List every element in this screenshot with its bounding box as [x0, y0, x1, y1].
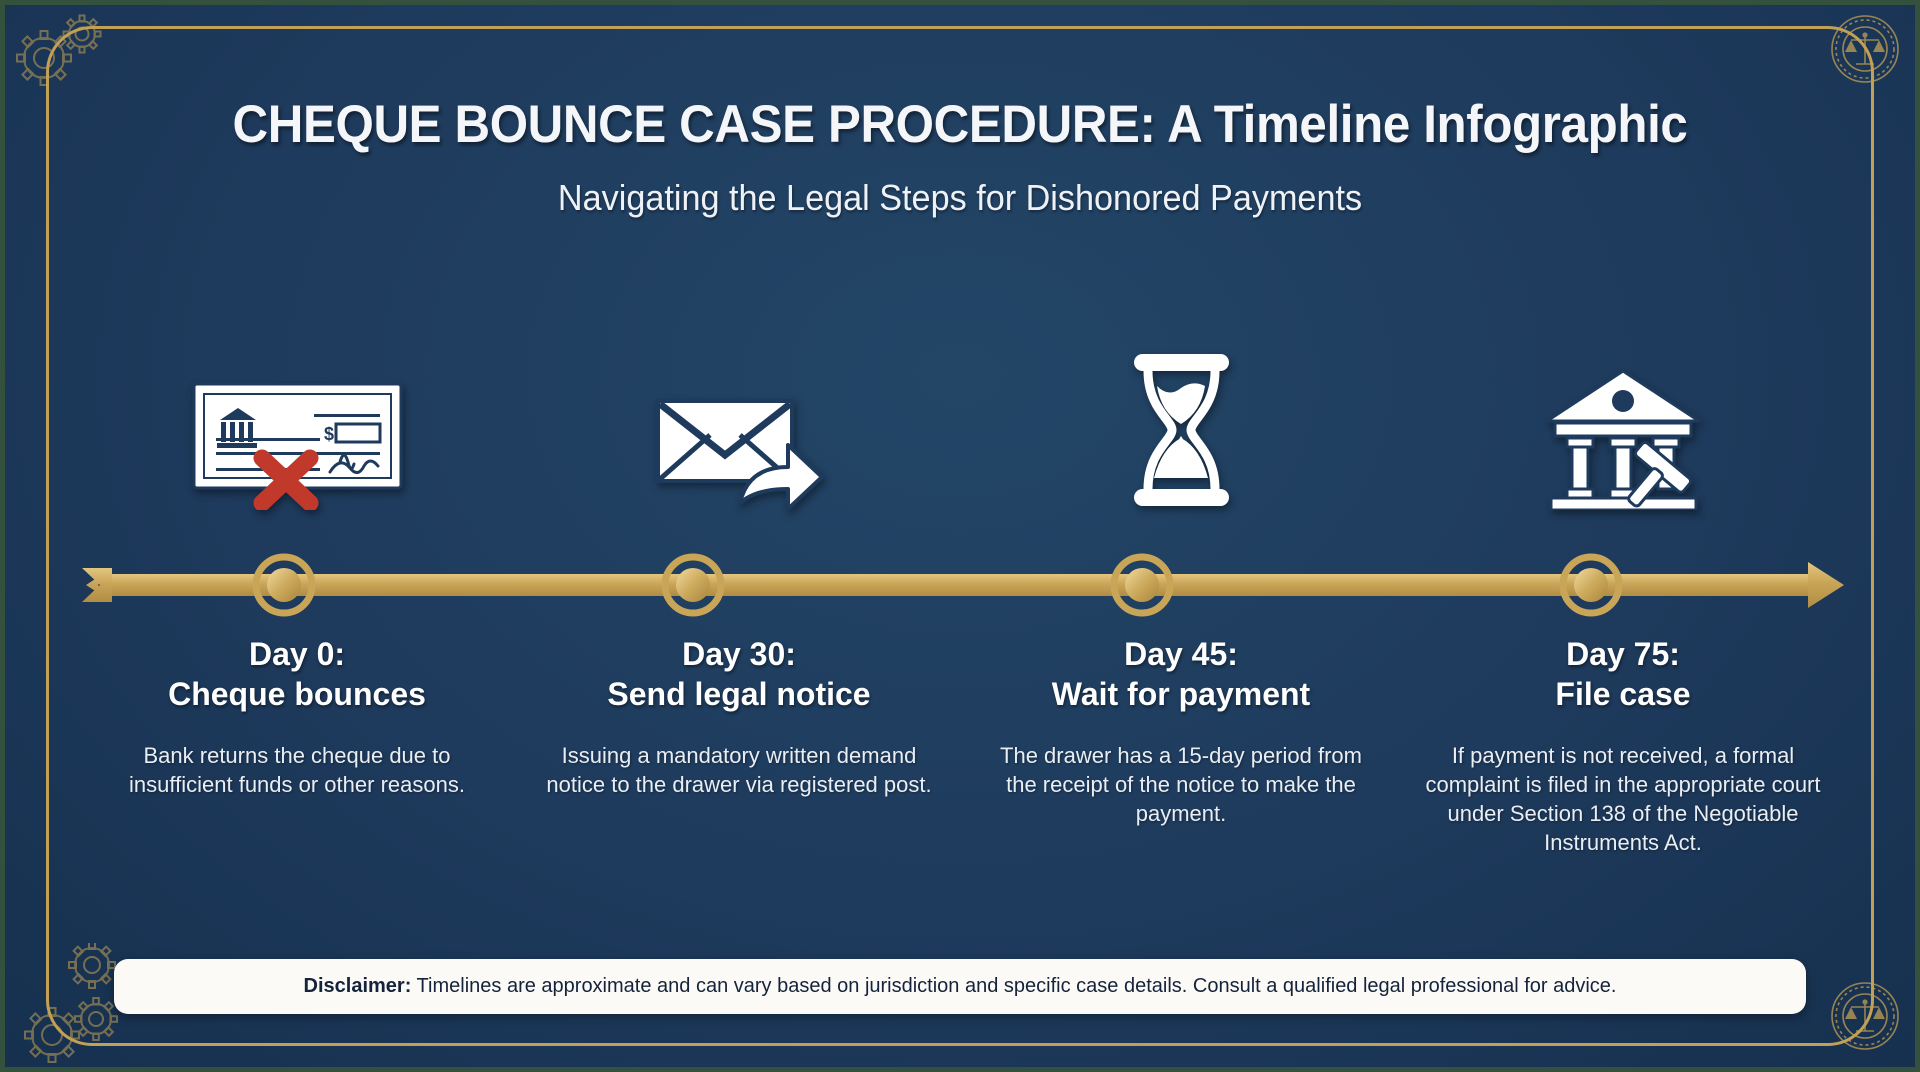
- step-day-2: Day 45: Wait for payment: [982, 634, 1380, 715]
- disclaimer-text: Timelines are approximate and can vary b…: [411, 975, 1616, 997]
- step-day-text: Day 45:: [1124, 636, 1238, 672]
- poster-header: CHEQUE BOUNCE CASE PROCEDURE: A Timeline…: [0, 94, 1920, 219]
- step-label-3: Day 75: File case If payment is not rece…: [1402, 634, 1844, 857]
- step-description-2: The drawer has a 15-day period from the …: [982, 741, 1380, 828]
- step-day-1: Day 30: Send legal notice: [540, 634, 938, 715]
- scales-of-justice-seal-icon: [1826, 10, 1904, 93]
- step-day-text: Day 30:: [682, 636, 796, 672]
- timeline-step: $: [76, 330, 518, 510]
- timeline-step: [1402, 330, 1844, 510]
- step-day-text: Day 75:: [1566, 636, 1680, 672]
- step-label-1: Day 30: Send legal notice Issuing a mand…: [518, 634, 960, 857]
- courthouse-gavel-icon: [1541, 330, 1706, 510]
- step-label-2: Day 45: Wait for payment The drawer has …: [960, 634, 1402, 857]
- page-title: CHEQUE BOUNCE CASE PROCEDURE: A Timeline…: [67, 94, 1853, 155]
- step-heading-text: File case: [1555, 676, 1690, 712]
- step-description-0: Bank returns the cheque due to insuffici…: [98, 741, 496, 799]
- step-label-0: Day 0: Cheque bounces Bank returns the c…: [76, 634, 518, 857]
- step-heading-text: Cheque bounces: [168, 676, 426, 712]
- step-description-3: If payment is not received, a formal com…: [1424, 741, 1822, 857]
- page-subtitle: Navigating the Legal Steps for Dishonore…: [48, 177, 1872, 219]
- step-day-0: Day 0: Cheque bounces: [98, 634, 496, 715]
- step-day-3: Day 75: File case: [1424, 634, 1822, 715]
- timeline-axis: [76, 540, 1844, 630]
- envelope-send-icon: [652, 330, 827, 510]
- timeline-step: [960, 330, 1402, 510]
- timeline-icons-row: $: [76, 330, 1844, 510]
- disclaimer-bar: Disclaimer: Timelines are approximate an…: [114, 959, 1806, 1014]
- svg-text:$: $: [324, 424, 334, 444]
- scales-of-justice-seal-icon: [1826, 977, 1904, 1060]
- disclaimer-label: Disclaimer:: [304, 975, 412, 997]
- step-heading-text: Wait for payment: [1052, 676, 1310, 712]
- timeline-labels-row: Day 0: Cheque bounces Bank returns the c…: [76, 634, 1844, 857]
- hourglass-icon: [1124, 330, 1239, 510]
- timeline-step: [518, 330, 960, 510]
- bounced-cheque-icon: $: [190, 330, 405, 510]
- infographic-poster: CHEQUE BOUNCE CASE PROCEDURE: A Timeline…: [0, 0, 1920, 1072]
- step-description-1: Issuing a mandatory written demand notic…: [540, 741, 938, 799]
- step-heading-text: Send legal notice: [607, 676, 870, 712]
- step-day-text: Day 0:: [249, 636, 345, 672]
